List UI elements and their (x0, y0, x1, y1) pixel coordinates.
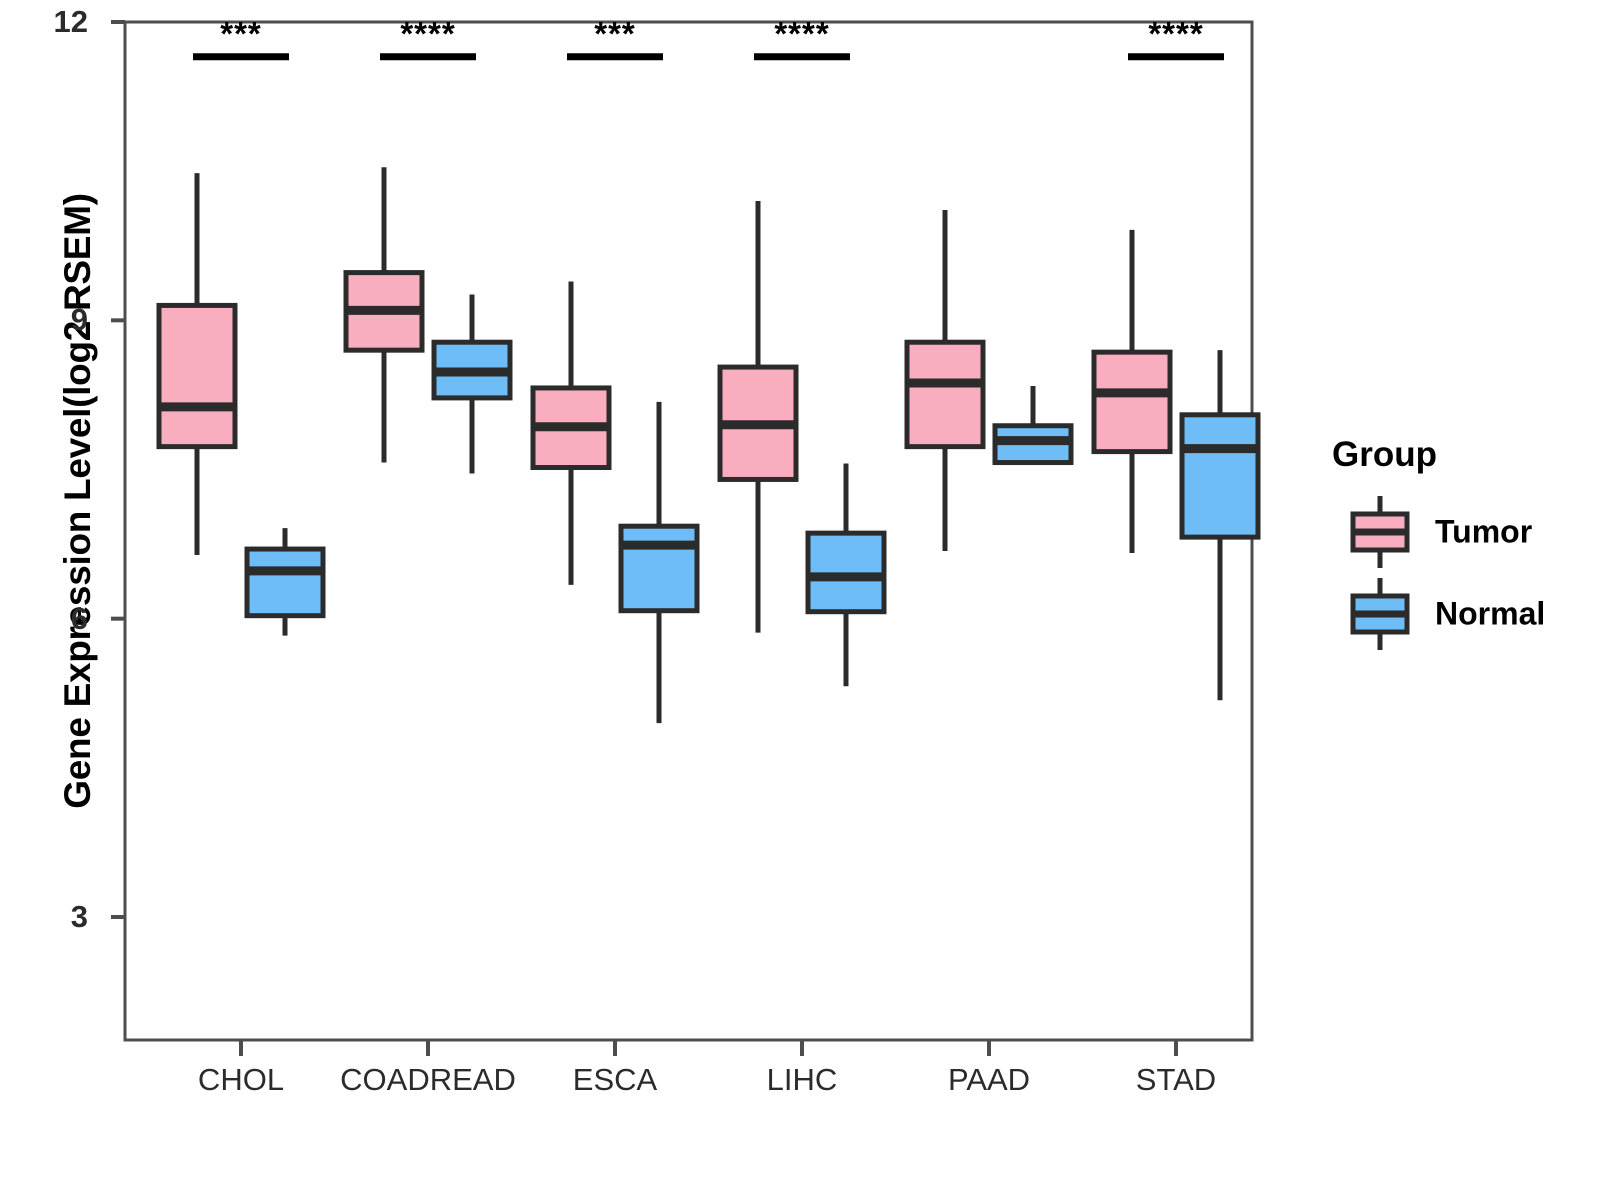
boxplot-normal-chol (246, 528, 325, 635)
x-tick-label-chol: CHOL (198, 1062, 284, 1098)
legend-title: Group (1332, 435, 1437, 475)
boxplot-normal-paad (994, 386, 1073, 463)
boxplot-tumor-stad (1093, 230, 1172, 553)
boxplot-tumor-lihc (719, 201, 798, 633)
boxplot-tumor-coadread (345, 167, 424, 462)
boxplot-normal-lihc (807, 464, 886, 687)
box (907, 342, 983, 446)
x-tick-label-coadread: COADREAD (340, 1062, 516, 1098)
significance-stars-esca: *** (594, 15, 636, 53)
boxplot-normal-coadread (433, 294, 512, 473)
legend-label-tumor: Tumor (1435, 514, 1532, 551)
x-tick-label-paad: PAAD (948, 1062, 1030, 1098)
boxplot-tumor-esca (532, 282, 611, 585)
box (1094, 352, 1170, 451)
legend-key-tumor[interactable] (1345, 492, 1415, 572)
legend-key-normal[interactable] (1345, 574, 1415, 654)
boxplot-tumor-paad (906, 210, 985, 551)
box (159, 305, 235, 446)
boxplot-tumor-chol (158, 173, 237, 555)
x-tick-label-lihc: LIHC (767, 1062, 838, 1098)
x-tick-label-stad: STAD (1136, 1062, 1216, 1098)
box (621, 526, 697, 611)
x-tick-label-esca: ESCA (573, 1062, 657, 1098)
box (247, 549, 323, 616)
significance-stars-coadread: **** (400, 15, 455, 53)
significance-stars-stad: **** (1148, 15, 1203, 53)
box (1182, 415, 1258, 537)
boxplot-normal-esca (620, 402, 699, 723)
significance-stars-chol: *** (220, 15, 262, 53)
significance-stars-lihc: **** (774, 15, 829, 53)
boxplot-normal-stad (1181, 350, 1260, 700)
legend-label-normal: Normal (1435, 596, 1545, 633)
chart-root: Gene Expression Level(log2 RSEM) 12963 C… (0, 0, 1600, 1200)
